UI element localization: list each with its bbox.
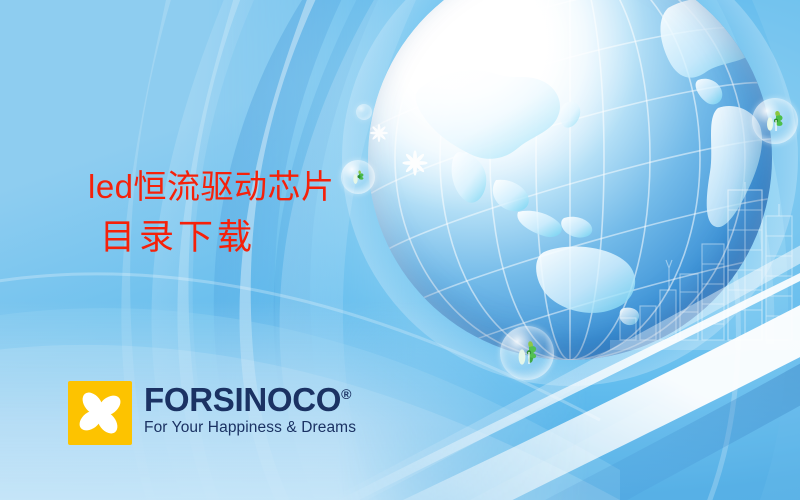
headline-line-1: led恒流驱动芯片 bbox=[88, 166, 418, 208]
registered-mark: ® bbox=[341, 386, 351, 402]
bubble-small-icon bbox=[356, 104, 372, 120]
banner-image: led恒流驱动芯片 目录下载 FORSINOCO® For Your Happi… bbox=[0, 0, 800, 500]
starburst-icon bbox=[368, 122, 390, 149]
brand-name: FORSINOCO® bbox=[144, 383, 351, 416]
pinwheel-petals-icon bbox=[68, 381, 132, 445]
bubble-windmill-icon bbox=[752, 98, 798, 144]
brand-name-text: FORSINOCO bbox=[144, 381, 341, 418]
brand-logo: FORSINOCO® For Your Happiness & Dreams bbox=[68, 381, 356, 445]
page-title: led恒流驱动芯片 目录下载 bbox=[88, 166, 418, 261]
brand-tagline: For Your Happiness & Dreams bbox=[144, 420, 356, 436]
headline-line-2: 目录下载 bbox=[100, 216, 418, 261]
